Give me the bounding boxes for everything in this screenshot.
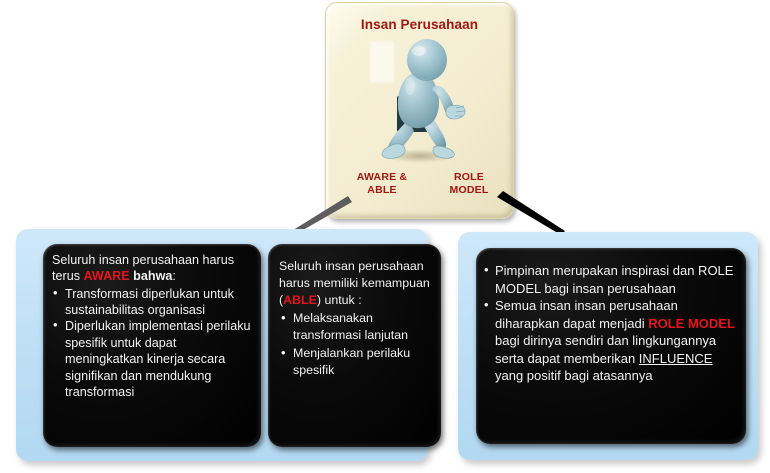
role-b2-part3: yang positif bagi atasannya (495, 368, 653, 383)
aware-lead: Seluruh insan perusahaan harus terus AWA… (52, 252, 255, 285)
label-role-line2: MODEL (450, 184, 489, 196)
insan-perusahaan-box: Insan Perusahaan (325, 2, 514, 219)
influence-keyword: INFLUENCE (639, 351, 713, 366)
aware-keyword: AWARE (84, 269, 130, 283)
aware-lead-part3: : (172, 269, 176, 283)
role-model-panel: Pimpinan merupakan inspirasi dan ROLE MO… (476, 248, 746, 444)
walking-person-3d-icon (364, 36, 484, 168)
list-item: Diperlukan implementasi perilaku spesifi… (52, 318, 255, 400)
list-item: Transformasi diperlukan untuk sustainabi… (52, 286, 255, 319)
list-item: Pimpinan merupakan inspirasi dan ROLE MO… (484, 262, 738, 297)
list-item: Semua insan insan perusahaan diharapkan … (484, 297, 738, 385)
able-lead: Seluruh insan perusahaan harus memiliki … (279, 258, 435, 309)
aware-bullet-list: Transformasi diperlukan untuk sustainabi… (52, 286, 255, 401)
label-role-model: ROLE MODEL (438, 171, 500, 197)
aware-panel: Seluruh insan perusahaan harus terus AWA… (43, 244, 261, 447)
role-model-frame: Pimpinan merupakan inspirasi dan ROLE MO… (458, 232, 758, 460)
label-aware-line1: AWARE & (357, 171, 407, 183)
aware-able-frame: Seluruh insan perusahaan harus terus AWA… (16, 229, 428, 461)
label-aware-line2: ABLE (367, 184, 396, 196)
able-keyword: ABLE (283, 293, 317, 307)
aware-lead-part2: bahwa (130, 269, 173, 283)
able-lead-part2: ) untuk : (317, 293, 362, 307)
list-item: Melaksanakan transformasi lanjutan (279, 310, 435, 344)
label-role-line1: ROLE (454, 171, 484, 183)
label-aware-able: AWARE & ABLE (342, 171, 422, 197)
page-title: Insan Perusahaan (326, 17, 513, 32)
able-bullet-list: Melaksanakan transformasi lanjutan Menja… (279, 310, 435, 378)
able-panel: Seluruh insan perusahaan harus memiliki … (268, 244, 441, 447)
list-item: Menjalankan perilaku spesifik (279, 345, 435, 379)
role-keyword: ROLE MODEL (648, 316, 735, 331)
role-bullet-list: Pimpinan merupakan inspirasi dan ROLE MO… (484, 262, 738, 385)
